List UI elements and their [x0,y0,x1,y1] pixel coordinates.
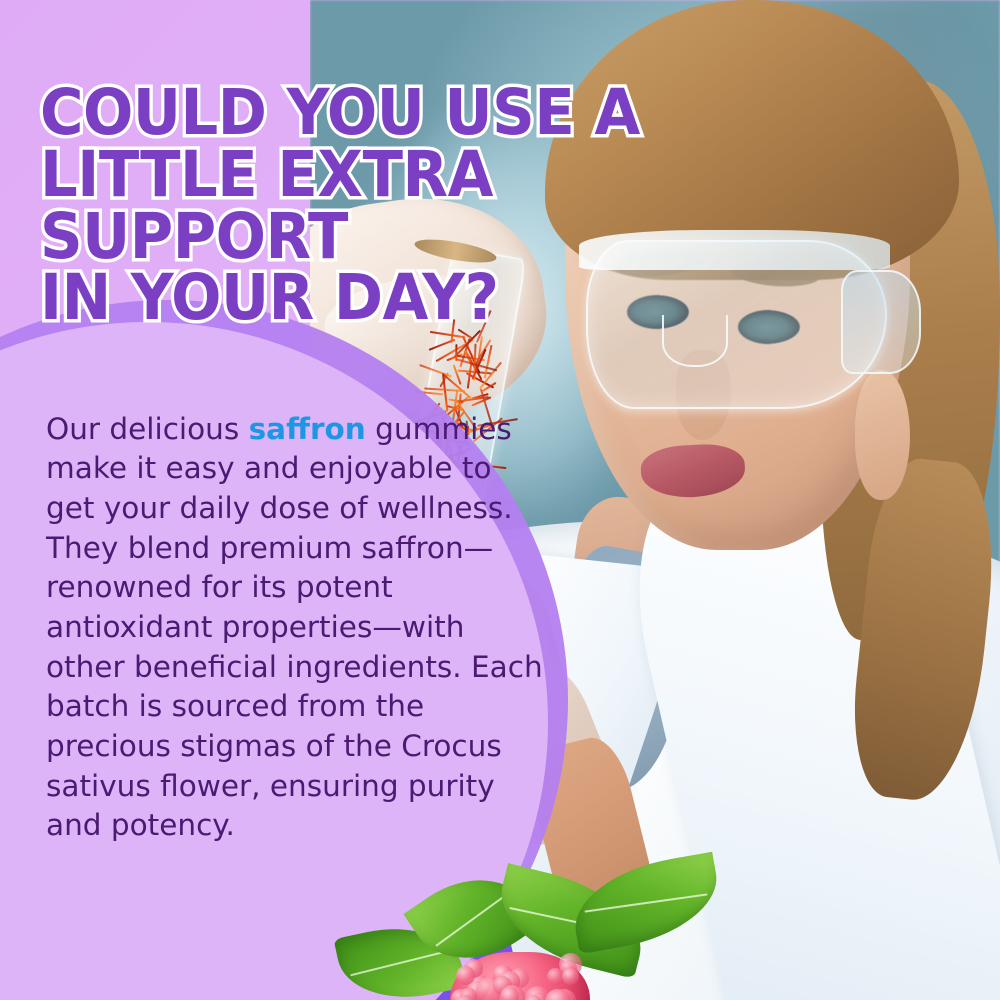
page-title: COULD YOU USE A LITTLE EXTRA SUPPORT IN … [40,82,792,329]
saffron-highlight: saffron [249,412,366,446]
leaf-vein [435,891,511,947]
body-copy: Our delicious saffron gummies make it ea… [46,410,546,846]
ear [855,370,910,500]
raspberry-icon [450,952,590,1000]
safety-goggles-arm [841,270,921,374]
body-lead: Our delicious [46,412,249,446]
leaf-icon [566,852,725,955]
leaf-vein [351,950,449,976]
body-rest: gummies make it easy and enjoyable to ge… [46,412,543,843]
leaf-vein [584,893,707,912]
promo-canvas: COULD YOU USE A LITTLE EXTRA SUPPORT IN … [0,0,1000,1000]
raspberry-graphic [300,858,720,1000]
